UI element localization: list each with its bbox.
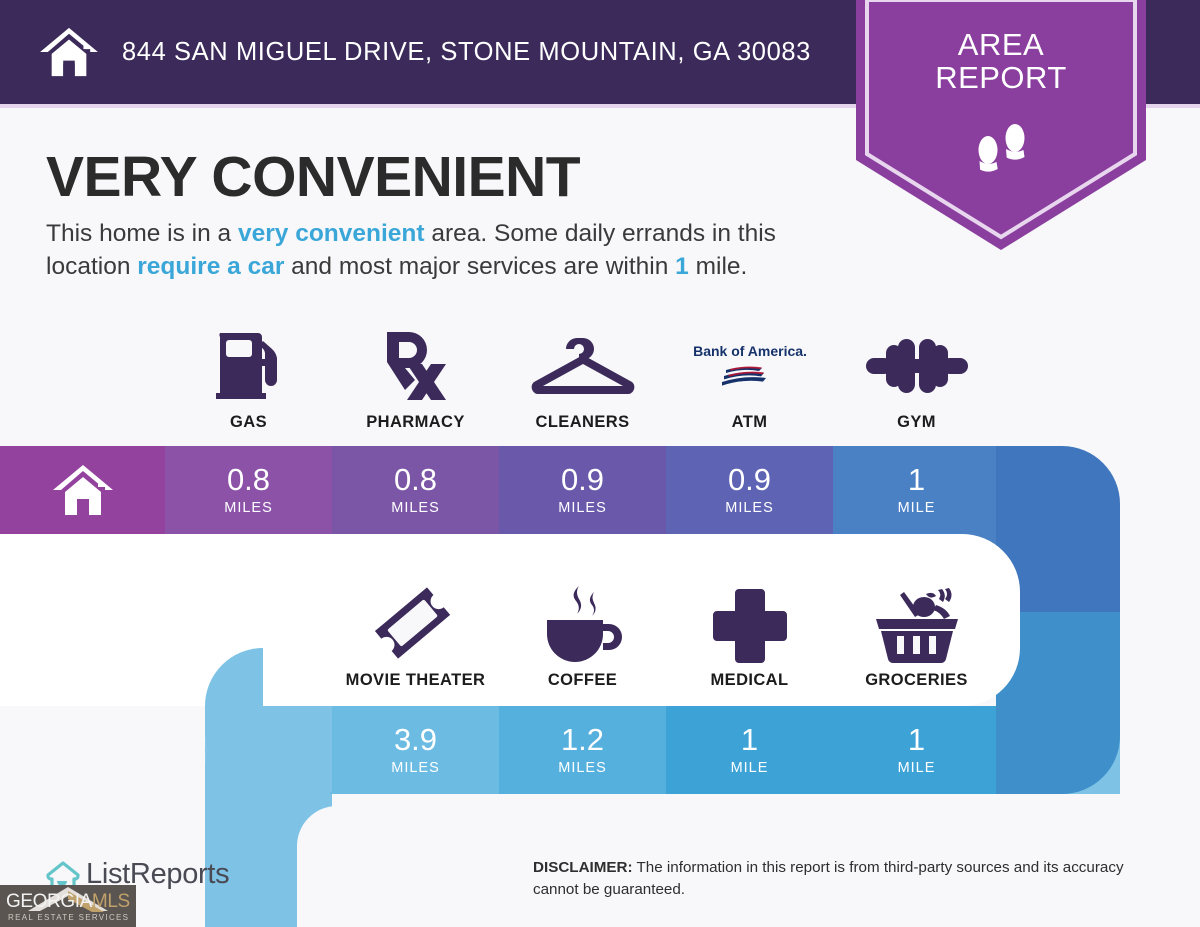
amenity-icons-row-2: MOVIE THEATER COFFEE MEDICAL xyxy=(0,570,1200,690)
hanger-icon xyxy=(531,325,635,407)
distance-unit: MILES xyxy=(391,760,440,776)
amenity-movie-theater: MOVIE THEATER xyxy=(332,570,499,690)
distance-gas: 0.8 MILES xyxy=(165,446,332,534)
distance-unit: MILES xyxy=(391,500,440,516)
amenity-gym: GYM xyxy=(833,312,1000,432)
amenity-label: MEDICAL xyxy=(711,671,789,690)
distance-unit: MILES xyxy=(558,760,607,776)
disclaimer-label: DISCLAIMER: xyxy=(533,859,633,876)
amenity-gas: GAS xyxy=(165,312,332,432)
distance-unit: MILE xyxy=(898,500,936,516)
disclaimer: DISCLAIMER: The information in this repo… xyxy=(533,857,1158,900)
amenity-label: GROCERIES xyxy=(865,671,968,690)
distance-cleaners: 0.9 MILES xyxy=(499,446,666,534)
bank-logo-icon: Bank of America. xyxy=(694,325,806,407)
amenity-label: GAS xyxy=(230,413,267,432)
distance-unit: MILE xyxy=(898,760,936,776)
amenity-label: CLEANERS xyxy=(536,413,630,432)
property-address: 844 SAN MIGUEL DRIVE, STONE MOUNTAIN, GA… xyxy=(122,38,811,67)
footprints-icon xyxy=(972,120,1032,182)
origin-home-cell xyxy=(0,446,165,534)
amenity-medical: MEDICAL xyxy=(666,570,833,690)
distance-value: 1 xyxy=(908,724,925,755)
dumbbell-icon xyxy=(864,325,970,407)
amenity-groceries: GROCERIES xyxy=(833,570,1000,690)
distance-value: 0.9 xyxy=(561,464,604,495)
distance-atm: 0.9 MILES xyxy=(666,446,833,534)
distance-groceries: 1 MILE xyxy=(833,706,1000,794)
medical-cross-icon xyxy=(711,583,789,665)
amenity-cleaners: CLEANERS xyxy=(499,312,666,432)
home-icon xyxy=(38,26,100,78)
distance-value: 0.9 xyxy=(728,464,771,495)
mls-tagline: REAL ESTATE SERVICES xyxy=(8,913,129,922)
amenity-atm: Bank of America. ATM xyxy=(666,312,833,432)
rx-icon xyxy=(383,325,449,407)
distance-unit: MILES xyxy=(558,500,607,516)
amenity-coffee: COFFEE xyxy=(499,570,666,690)
amenity-label: PHARMACY xyxy=(366,413,465,432)
distance-gym: 1 MILE xyxy=(833,446,1000,534)
amenity-pharmacy: PHARMACY xyxy=(332,312,499,432)
distance-movie-theater: 3.9 MILES xyxy=(332,706,499,794)
distance-value: 1.2 xyxy=(561,724,604,755)
distance-value: 1 xyxy=(908,464,925,495)
area-report-infographic: 844 SAN MIGUEL DRIVE, STONE MOUNTAIN, GA… xyxy=(0,0,1200,927)
home-icon xyxy=(51,463,115,517)
amenity-label: MOVIE THEATER xyxy=(346,671,486,690)
amenity-icons-row-1: GAS PHARMACY CLEANERS xyxy=(0,312,1200,432)
mls-georgia: GEORGIA xyxy=(6,891,92,912)
amenity-label: ATM xyxy=(732,413,768,432)
distance-value: 1 xyxy=(741,724,758,755)
georgia-mls-watermark: GEORGIAMLS REAL ESTATE SERVICES xyxy=(0,885,136,927)
gas-pump-icon xyxy=(214,325,284,407)
distance-medical: 1 MILE xyxy=(666,706,833,794)
mls-wordmark: GEORGIAMLS xyxy=(6,891,130,913)
amenity-label: GYM xyxy=(897,413,936,432)
amenity-label: COFFEE xyxy=(548,671,617,690)
mls-suffix: MLS xyxy=(92,891,130,912)
distance-coffee: 1.2 MILES xyxy=(499,706,666,794)
distance-unit: MILES xyxy=(725,500,774,516)
distance-pharmacy: 0.8 MILES xyxy=(332,446,499,534)
distance-value: 0.8 xyxy=(227,464,270,495)
coffee-cup-icon xyxy=(537,583,629,665)
bank-name-text: Bank of America. xyxy=(694,343,806,359)
distance-unit: MILE xyxy=(731,760,769,776)
distance-unit: MILES xyxy=(224,500,273,516)
area-report-badge: AREA REPORT xyxy=(856,0,1146,250)
grocery-basket-icon xyxy=(870,583,964,665)
movie-ticket-icon xyxy=(372,583,460,665)
distance-value: 0.8 xyxy=(394,464,437,495)
distance-value: 3.9 xyxy=(394,724,437,755)
